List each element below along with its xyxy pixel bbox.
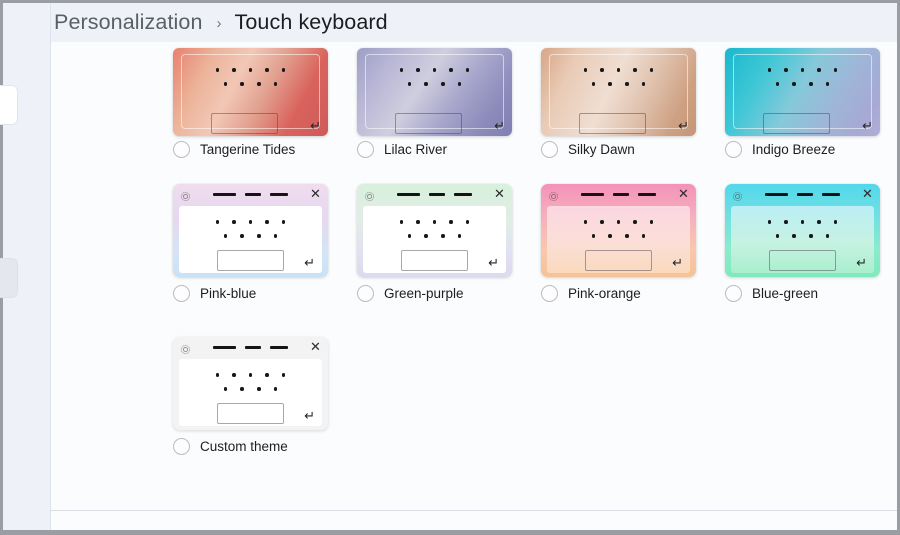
key-dot bbox=[433, 68, 437, 72]
key-row-bottom bbox=[179, 234, 322, 238]
theme-preview[interactable]: ✕ ↵ bbox=[357, 184, 512, 277]
spacebar-key bbox=[585, 250, 652, 271]
titlebar-dashes bbox=[725, 193, 880, 196]
theme-radio-option[interactable]: Silky Dawn bbox=[541, 141, 635, 158]
keyboard-body: ↵ bbox=[547, 206, 690, 273]
sidebar-item-partial-bottom[interactable] bbox=[0, 258, 18, 298]
sidebar-rail bbox=[3, 3, 50, 530]
key-dot bbox=[633, 68, 637, 72]
theme-name-label: Tangerine Tides bbox=[200, 142, 295, 157]
page-title: Touch keyboard bbox=[235, 10, 388, 35]
key-row-top bbox=[731, 220, 874, 224]
radio-button[interactable] bbox=[725, 285, 742, 302]
enter-key-icon: ↵ bbox=[304, 409, 315, 423]
theme-radio-option[interactable]: Pink-orange bbox=[541, 285, 641, 302]
breadcrumb: Personalization › Touch keyboard bbox=[51, 3, 897, 42]
theme-radio-option[interactable]: Tangerine Tides bbox=[173, 141, 295, 158]
key-row-bottom bbox=[179, 387, 322, 391]
radio-button[interactable] bbox=[541, 285, 558, 302]
theme-name-label: Pink-orange bbox=[568, 286, 641, 301]
key-dot bbox=[274, 234, 278, 238]
theme-radio-option[interactable]: Blue-green bbox=[725, 285, 818, 302]
preview-titlebar: ✕ bbox=[173, 184, 328, 206]
theme-option[interactable]: ↵ bbox=[173, 48, 333, 136]
key-dot bbox=[466, 68, 470, 72]
spacebar-key bbox=[769, 250, 836, 271]
key-dot bbox=[584, 68, 588, 72]
theme-radio-option[interactable]: Lilac River bbox=[357, 141, 447, 158]
key-dot bbox=[240, 82, 244, 86]
key-dot bbox=[449, 220, 453, 224]
theme-name-label: Indigo Breeze bbox=[752, 142, 835, 157]
key-dot bbox=[224, 387, 228, 391]
theme-name-label: Blue-green bbox=[752, 286, 818, 301]
radio-button[interactable] bbox=[173, 141, 190, 158]
close-icon: ✕ bbox=[310, 341, 321, 352]
content-panel: Personalization › Touch keyboard ↵ Tange… bbox=[50, 3, 897, 511]
key-dot bbox=[592, 234, 596, 238]
radio-button[interactable] bbox=[173, 438, 190, 455]
spacebar-key bbox=[217, 250, 284, 271]
key-dot bbox=[249, 373, 253, 377]
key-row-bottom bbox=[731, 234, 874, 238]
close-icon: ✕ bbox=[862, 188, 873, 199]
theme-name-label: Custom theme bbox=[200, 439, 288, 454]
key-dot bbox=[617, 220, 621, 224]
key-dot bbox=[424, 234, 428, 238]
key-dot bbox=[240, 387, 244, 391]
key-dot bbox=[400, 220, 404, 224]
spacebar-key bbox=[395, 113, 462, 134]
keyboard-body: ↵ bbox=[179, 359, 322, 426]
close-icon: ✕ bbox=[678, 188, 689, 199]
enter-key-icon: ↵ bbox=[304, 256, 315, 270]
key-dot bbox=[642, 234, 646, 238]
key-dot bbox=[216, 373, 220, 377]
key-row-top bbox=[725, 68, 880, 72]
keyboard-body: ↵ bbox=[179, 206, 322, 273]
key-dot bbox=[416, 68, 420, 72]
theme-name-label: Green-purple bbox=[384, 286, 464, 301]
key-dot bbox=[600, 220, 604, 224]
key-dot bbox=[265, 68, 269, 72]
sidebar-item-partial-top[interactable] bbox=[0, 85, 18, 125]
theme-preview[interactable]: ↵ bbox=[541, 48, 696, 136]
key-dot bbox=[216, 220, 220, 224]
key-dot bbox=[232, 220, 236, 224]
key-dot bbox=[592, 82, 596, 86]
key-dot bbox=[408, 234, 412, 238]
close-icon: ✕ bbox=[310, 188, 321, 199]
key-dot bbox=[792, 82, 796, 86]
key-row-top bbox=[357, 68, 512, 72]
spacebar-key bbox=[217, 403, 284, 424]
key-dot bbox=[826, 82, 830, 86]
theme-preview[interactable]: ↵ bbox=[173, 48, 328, 136]
key-dot bbox=[282, 68, 286, 72]
theme-radio-option[interactable]: Indigo Breeze bbox=[725, 141, 835, 158]
key-dot bbox=[650, 68, 654, 72]
key-dot bbox=[249, 68, 253, 72]
spacebar-key bbox=[763, 113, 830, 134]
key-dot bbox=[625, 82, 629, 86]
enter-key-icon: ↵ bbox=[856, 256, 867, 270]
theme-preview[interactable]: ↵ bbox=[725, 48, 880, 136]
key-dot bbox=[257, 387, 261, 391]
key-dot bbox=[232, 373, 236, 377]
key-dot bbox=[834, 68, 838, 72]
theme-name-label: Silky Dawn bbox=[568, 142, 635, 157]
key-dot bbox=[801, 68, 805, 72]
key-dot bbox=[600, 68, 604, 72]
key-dot bbox=[817, 68, 821, 72]
radio-button[interactable] bbox=[541, 141, 558, 158]
key-dot bbox=[466, 220, 470, 224]
key-row-top bbox=[173, 68, 328, 72]
key-dot bbox=[282, 373, 286, 377]
preview-titlebar: ✕ bbox=[173, 337, 328, 359]
key-dot bbox=[642, 82, 646, 86]
theme-option[interactable]: ↵ bbox=[725, 48, 885, 136]
key-dot bbox=[809, 82, 813, 86]
key-dot bbox=[458, 234, 462, 238]
key-dot bbox=[441, 82, 445, 86]
enter-key-icon: ↵ bbox=[310, 119, 321, 133]
titlebar-dashes bbox=[173, 193, 328, 196]
key-dot bbox=[441, 234, 445, 238]
theme-option[interactable]: ✕ ↵ bbox=[357, 184, 517, 277]
theme-radio-option[interactable]: Custom theme bbox=[173, 438, 288, 455]
key-dot bbox=[265, 220, 269, 224]
radio-button[interactable] bbox=[357, 285, 374, 302]
key-dot bbox=[776, 234, 780, 238]
keyboard-body: ↵ bbox=[363, 206, 506, 273]
key-dot bbox=[776, 82, 780, 86]
spacebar-key bbox=[211, 113, 278, 134]
key-row-top bbox=[179, 220, 322, 224]
key-dot bbox=[282, 220, 286, 224]
theme-radio-option[interactable]: Green-purple bbox=[357, 285, 464, 302]
titlebar-dashes bbox=[173, 346, 328, 349]
key-dot bbox=[792, 234, 796, 238]
key-row-bottom bbox=[173, 82, 328, 86]
key-dot bbox=[608, 234, 612, 238]
key-dot bbox=[232, 68, 236, 72]
window-bottom-strip bbox=[3, 511, 897, 530]
close-icon: ✕ bbox=[494, 188, 505, 199]
spacebar-key bbox=[579, 113, 646, 134]
key-dot bbox=[400, 68, 404, 72]
enter-key-icon: ↵ bbox=[678, 119, 689, 133]
key-dot bbox=[617, 68, 621, 72]
settings-window: Personalization › Touch keyboard ↵ Tange… bbox=[0, 0, 900, 535]
preview-titlebar: ✕ bbox=[725, 184, 880, 206]
key-dot bbox=[274, 387, 278, 391]
titlebar-dashes bbox=[541, 193, 696, 196]
key-dot bbox=[809, 234, 813, 238]
key-dot bbox=[408, 82, 412, 86]
theme-name-label: Pink-blue bbox=[200, 286, 256, 301]
key-dot bbox=[458, 82, 462, 86]
theme-preview[interactable]: ✕ ↵ bbox=[541, 184, 696, 277]
theme-option[interactable]: ✕ ↵ bbox=[173, 184, 333, 277]
key-dot bbox=[768, 68, 772, 72]
key-dot bbox=[424, 82, 428, 86]
key-dot bbox=[826, 234, 830, 238]
key-dot bbox=[801, 220, 805, 224]
enter-key-icon: ↵ bbox=[672, 256, 683, 270]
key-dot bbox=[784, 220, 788, 224]
preview-titlebar: ✕ bbox=[357, 184, 512, 206]
preview-titlebar: ✕ bbox=[541, 184, 696, 206]
key-row-bottom bbox=[725, 82, 880, 86]
key-row-top bbox=[541, 68, 696, 72]
theme-preview[interactable]: ↵ bbox=[357, 48, 512, 136]
key-dot bbox=[240, 234, 244, 238]
theme-name-label: Lilac River bbox=[384, 142, 447, 157]
key-row-top bbox=[363, 220, 506, 224]
key-dot bbox=[433, 220, 437, 224]
enter-key-icon: ↵ bbox=[488, 256, 499, 270]
titlebar-dashes bbox=[357, 193, 512, 196]
key-dot bbox=[274, 82, 278, 86]
chevron-right-icon: › bbox=[217, 15, 222, 32]
theme-option[interactable]: ↵ bbox=[541, 48, 701, 136]
key-dot bbox=[449, 68, 453, 72]
key-row-bottom bbox=[547, 234, 690, 238]
key-row-bottom bbox=[363, 234, 506, 238]
key-row-bottom bbox=[357, 82, 512, 86]
spacebar-key bbox=[401, 250, 468, 271]
key-dot bbox=[625, 234, 629, 238]
radio-button[interactable] bbox=[357, 141, 374, 158]
theme-option[interactable]: ↵ bbox=[357, 48, 517, 136]
theme-option[interactable]: ✕ ↵ bbox=[725, 184, 885, 277]
breadcrumb-parent[interactable]: Personalization bbox=[54, 10, 203, 35]
radio-button[interactable] bbox=[173, 285, 190, 302]
key-dot bbox=[584, 220, 588, 224]
key-dot bbox=[224, 234, 228, 238]
enter-key-icon: ↵ bbox=[862, 119, 873, 133]
key-dot bbox=[416, 220, 420, 224]
keyboard-body: ↵ bbox=[731, 206, 874, 273]
key-dot bbox=[784, 68, 788, 72]
enter-key-icon: ↵ bbox=[494, 119, 505, 133]
key-dot bbox=[224, 82, 228, 86]
theme-option[interactable]: ✕ ↵ bbox=[541, 184, 701, 277]
theme-option[interactable]: ✕ ↵ bbox=[173, 337, 333, 430]
key-dot bbox=[768, 220, 772, 224]
radio-button[interactable] bbox=[725, 141, 742, 158]
key-dot bbox=[633, 220, 637, 224]
key-row-top bbox=[547, 220, 690, 224]
key-dot bbox=[650, 220, 654, 224]
key-dot bbox=[257, 82, 261, 86]
key-row-top bbox=[179, 373, 322, 377]
theme-preview[interactable]: ✕ ↵ bbox=[173, 184, 328, 277]
theme-preview[interactable]: ✕ ↵ bbox=[725, 184, 880, 277]
theme-radio-option[interactable]: Pink-blue bbox=[173, 285, 256, 302]
key-dot bbox=[249, 220, 253, 224]
key-dot bbox=[834, 220, 838, 224]
key-dot bbox=[265, 373, 269, 377]
key-dot bbox=[216, 68, 220, 72]
key-row-bottom bbox=[541, 82, 696, 86]
key-dot bbox=[608, 82, 612, 86]
key-dot bbox=[817, 220, 821, 224]
theme-gallery: ↵ Tangerine Tides ↵ Lilac River ↵ Silky … bbox=[51, 42, 897, 510]
key-dot bbox=[257, 234, 261, 238]
theme-preview[interactable]: ✕ ↵ bbox=[173, 337, 328, 430]
